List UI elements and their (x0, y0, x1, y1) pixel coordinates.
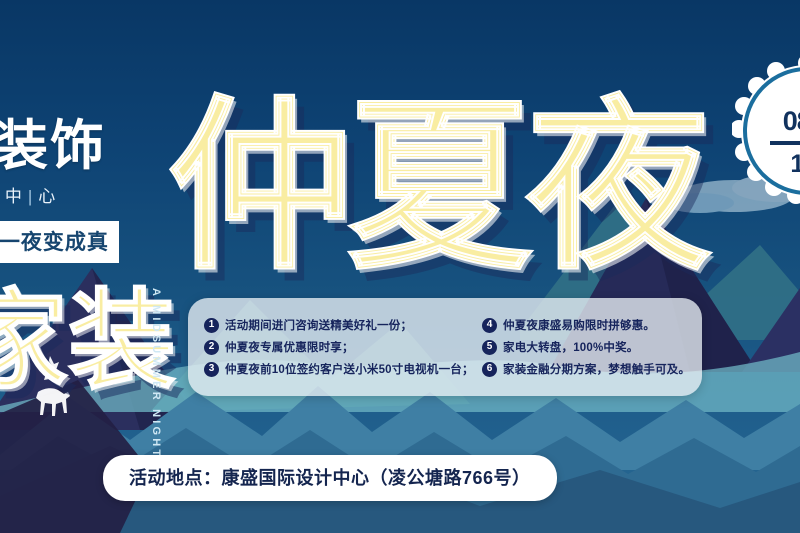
benefit-number: 2 (204, 340, 219, 355)
brand-tagline: 装梦 一夜变成真 (0, 221, 119, 263)
vertical-english-text: A MIDSUMMER NIGHT (150, 288, 162, 459)
brand-subtitle: 設|計|中|心 (0, 182, 188, 207)
benefit-item: 4 仲夏夜康盛易购限时拼够惠。 (482, 317, 688, 333)
benefit-number: 6 (482, 362, 497, 377)
benefit-text: 仲夏夜康盛易购限时拼够惠。 (503, 317, 655, 333)
benefit-text: 仲夏夜前10位签约客户送小米50寸电视机一台； (225, 361, 474, 377)
benefit-number: 1 (204, 318, 219, 333)
benefits-column-left: 1 活动期间进门咨询送精美好礼一份； 2 仲夏夜专属优惠限时享； 3 仲夏夜前1… (204, 307, 482, 387)
benefit-item: 3 仲夏夜前10位签约客户送小米50寸电视机一台； (204, 361, 482, 377)
brand-logo: 盛装饰 設|計|中|心 装梦 一夜变成真 (0, 118, 188, 263)
benefit-item: 6 家装金融分期方案，梦想触手可及。 (482, 361, 688, 377)
brand-subtitle-divider: | (28, 187, 33, 206)
date-badge: ) 08/2 18: (732, 56, 800, 206)
benefits-column-right: 4 仲夏夜康盛易购限时拼够惠。 5 家电大转盘，100%中奖。 6 家装金融分期… (482, 307, 688, 387)
brand-subtitle-char-3: 心 (38, 187, 56, 206)
benefit-item: 5 家电大转盘，100%中奖。 (482, 339, 688, 355)
badge-date: 08/2 (783, 106, 800, 136)
benefit-item: 2 仲夏夜专属优惠限时享； (204, 339, 482, 355)
benefit-text: 活动期间进门咨询送精美好礼一份； (225, 317, 412, 333)
brand-subtitle-char-2: 中 (5, 187, 23, 206)
brand-name: 盛装饰 (0, 118, 188, 174)
headline-text: 仲夏夜 (168, 96, 705, 281)
benefit-text: 家装金融分期方案，梦想触手可及。 (503, 361, 690, 377)
badge-time: 18: (790, 150, 800, 178)
benefit-text: 仲夏夜专属优惠限时享； (225, 339, 354, 355)
benefit-number: 5 (482, 340, 497, 355)
benefit-number: 4 (482, 318, 497, 333)
badge-divider (770, 141, 800, 145)
benefits-panel: 1 活动期间进门咨询送精美好礼一份； 2 仲夏夜专属优惠限时享； 3 仲夏夜前1… (188, 298, 702, 396)
benefit-number: 3 (204, 362, 219, 377)
benefit-item: 1 活动期间进门咨询送精美好礼一份； (204, 317, 482, 333)
benefit-text: 家电大转盘，100%中奖。 (503, 339, 639, 355)
venue-banner: 活动地点：康盛国际设计中心（凌公塘路766号） (103, 455, 557, 501)
poster-canvas: 仲夏夜 家装 盛装饰 設|計|中|心 装梦 一夜变成真 A MIDSUMMER … (0, 0, 800, 533)
